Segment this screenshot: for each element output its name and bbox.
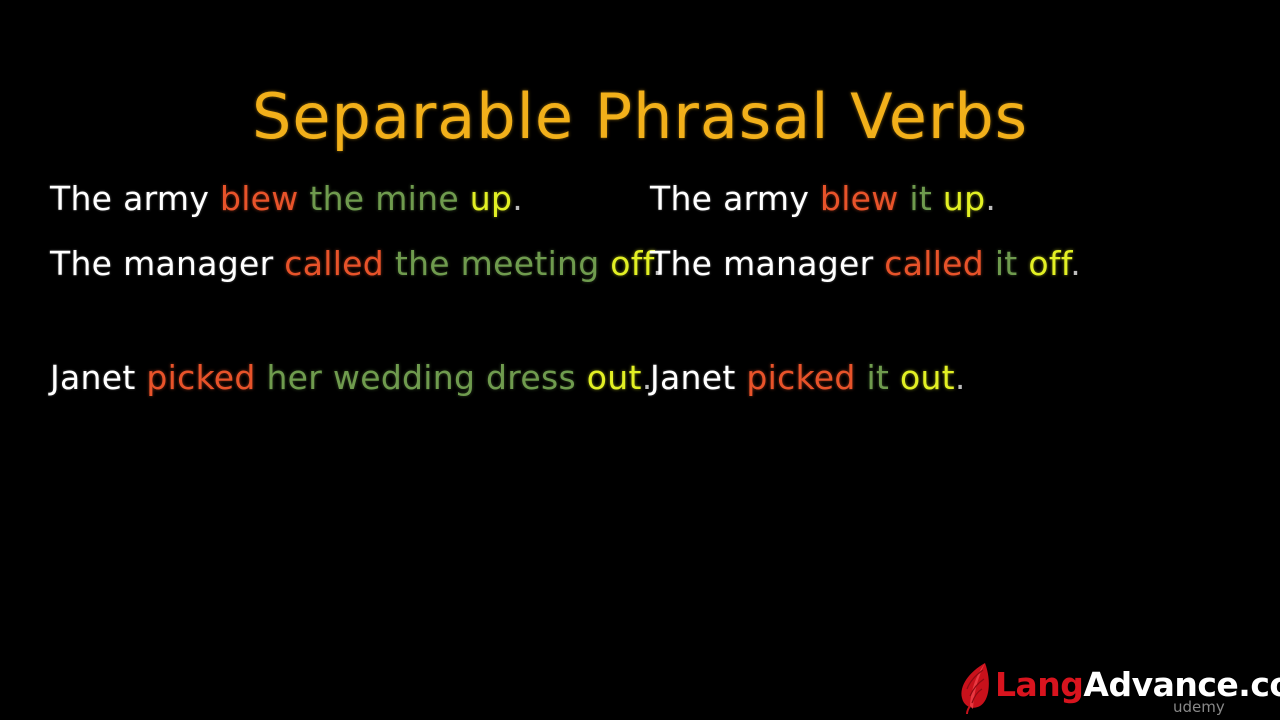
- sentence-object: it: [984, 244, 1028, 283]
- sentence-subject: Janet: [650, 358, 746, 397]
- phrasal-verb: picked: [146, 358, 255, 397]
- sentence-object: the meeting: [384, 244, 610, 283]
- verb-particle: off: [1028, 244, 1070, 283]
- verb-particle: off: [610, 244, 652, 283]
- sentence-row: Janet picked her wedding dress out.: [50, 355, 610, 401]
- phrasal-verb: called: [284, 244, 384, 283]
- langadvance-logo[interactable]: LangAdvance.com udemy: [955, 662, 1265, 718]
- sentence-row: The army blew the mine up.: [50, 176, 610, 222]
- platform-watermark: udemy: [1173, 698, 1225, 716]
- phrasal-verb: called: [884, 244, 984, 283]
- sentence-subject: The manager: [650, 244, 884, 283]
- phrasal-verb: blew: [220, 179, 299, 218]
- sentence-object: her wedding dress: [256, 358, 587, 397]
- sentence-subject: Janet: [50, 358, 146, 397]
- leaf-icon: [955, 662, 999, 714]
- sentence-row: Janet picked it out.: [650, 355, 1250, 401]
- sentence-subject: The army: [50, 179, 220, 218]
- verb-particle: up: [470, 179, 512, 218]
- sentence-punctuation: .: [1070, 244, 1081, 283]
- logo-brand-lang: Lang: [995, 665, 1083, 704]
- phrasal-verb: picked: [746, 358, 855, 397]
- sentence-subject: The manager: [50, 244, 284, 283]
- sentence-punctuation: .: [512, 179, 523, 218]
- slide-canvas: Separable Phrasal Verbs The army blew th…: [0, 0, 1280, 720]
- sentence-row: The manager called the meeting off.: [50, 241, 610, 287]
- verb-particle: out: [587, 358, 642, 397]
- phrasal-verb: blew: [820, 179, 899, 218]
- sentence-object: it: [856, 358, 900, 397]
- sentence-subject: The army: [650, 179, 820, 218]
- verb-particle: out: [900, 358, 955, 397]
- sentence-object: it: [899, 179, 943, 218]
- sentence-row: The manager called it off.: [650, 241, 1250, 287]
- sentence-punctuation: .: [985, 179, 996, 218]
- verb-particle: up: [943, 179, 985, 218]
- logo-wordmark: LangAdvance.com: [995, 666, 1280, 704]
- sentence-object: the mine: [299, 179, 470, 218]
- page-title: Separable Phrasal Verbs: [0, 82, 1280, 152]
- sentence-punctuation: .: [955, 358, 966, 397]
- sentence-columns: The army blew the mine up. The manager c…: [0, 168, 1280, 468]
- sentence-row: The army blew it up.: [650, 176, 1250, 222]
